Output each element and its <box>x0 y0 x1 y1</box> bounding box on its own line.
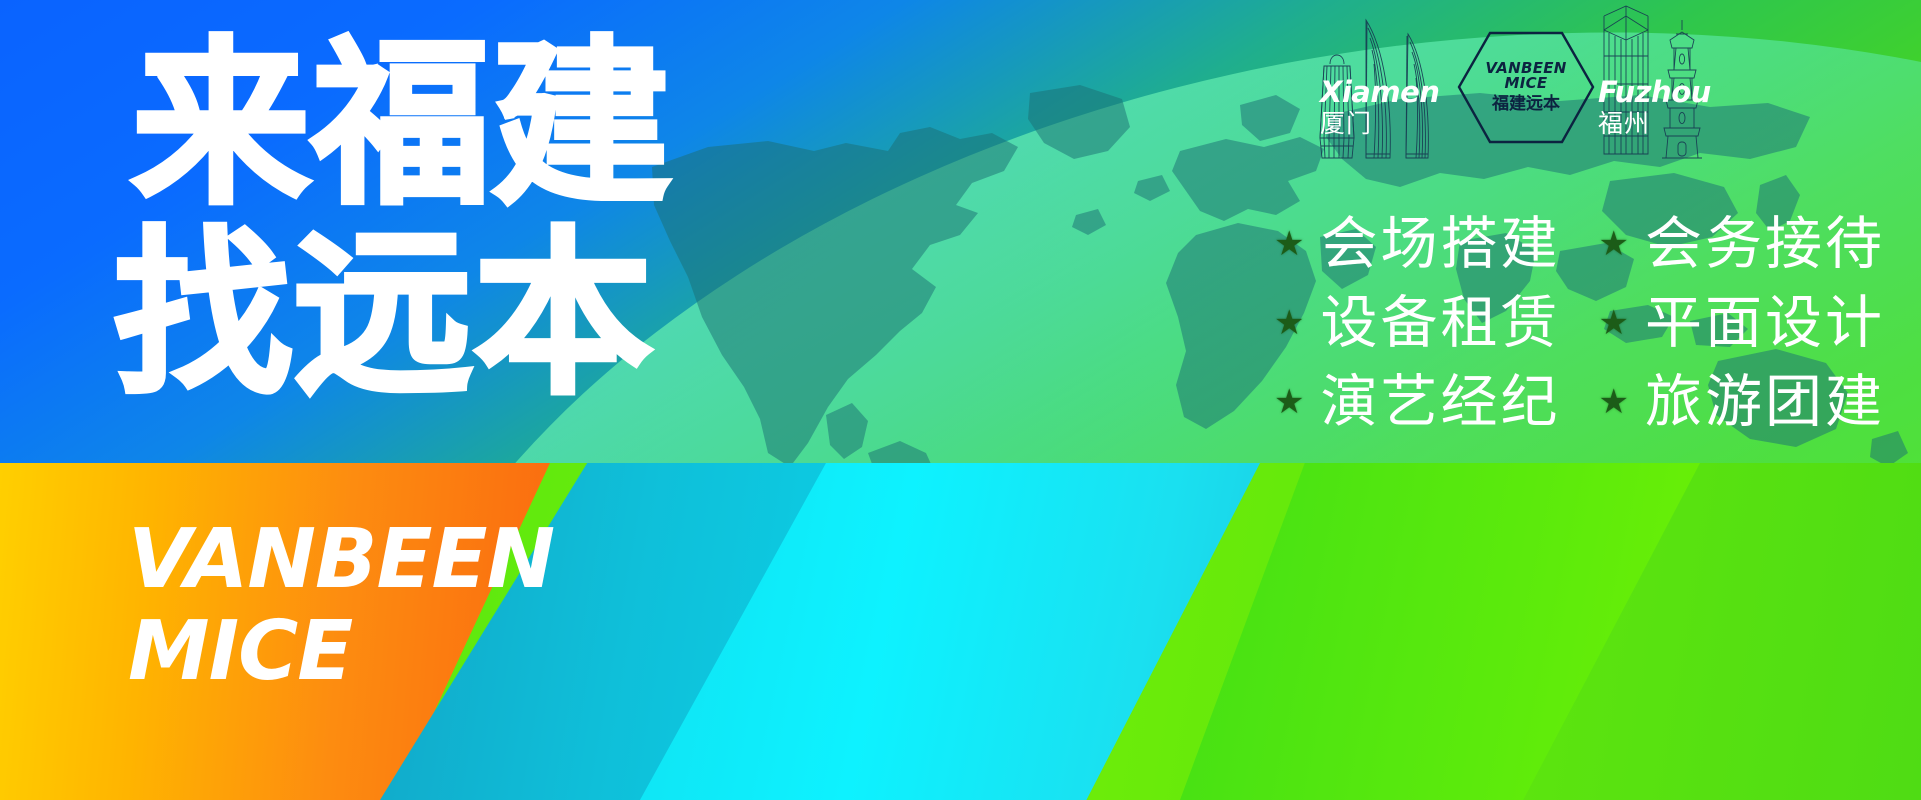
city-name-en: Xiamen <box>1320 78 1439 107</box>
service-label: 设备租赁 <box>1321 287 1561 360</box>
headline-line-2: 找远本 <box>114 228 672 402</box>
city-name-cn: 厦门 <box>1320 110 1439 138</box>
promo-banner: 来福建 找远本 ★ 会场搭建 ★ 会务接待 ★ 设备租赁 ★ 平面设计 ★ <box>0 0 1921 800</box>
star-icon: ★ <box>1274 385 1304 419</box>
service-item-2[interactable]: ★ 设备租赁 <box>1274 287 1560 360</box>
service-label: 会场搭建 <box>1321 208 1561 281</box>
city-name-cn: 福州 <box>1598 110 1711 138</box>
green-wedge-shape <box>1180 463 1700 800</box>
hex-brand-line-2: MICE <box>1505 76 1548 92</box>
service-label: 旅游团建 <box>1645 366 1885 439</box>
service-label: 会务接待 <box>1645 208 1885 281</box>
banner-bottom-bar: VANBEEN MICE <box>0 463 1921 800</box>
star-icon: ★ <box>1599 306 1629 340</box>
brand-logo-line-1: VANBEEN <box>128 518 554 602</box>
service-item-0[interactable]: ★ 会场搭建 <box>1274 208 1560 281</box>
banner-main-panel: 来福建 找远本 ★ 会场搭建 ★ 会务接待 ★ 设备租赁 ★ 平面设计 ★ <box>0 0 1921 463</box>
headline: 来福建 找远本 <box>132 38 672 403</box>
service-list: ★ 会场搭建 ★ 会务接待 ★ 设备租赁 ★ 平面设计 ★ 演艺经纪 ★ 旅游团 <box>1274 208 1885 439</box>
service-label: 演艺经纪 <box>1321 366 1561 439</box>
service-item-3[interactable]: ★ 平面设计 <box>1599 287 1885 360</box>
city-badge-fuzhou: Fuzhou 福州 <box>1598 78 1711 138</box>
service-item-5[interactable]: ★ 旅游团建 <box>1599 366 1885 439</box>
star-icon: ★ <box>1599 227 1629 261</box>
service-item-1[interactable]: ★ 会务接待 <box>1599 208 1885 281</box>
service-item-4[interactable]: ★ 演艺经纪 <box>1274 366 1560 439</box>
city-name-en: Fuzhou <box>1598 78 1711 107</box>
service-label: 平面设计 <box>1645 287 1885 360</box>
hex-brand-cn: 福建远本 <box>1492 94 1560 114</box>
star-icon: ★ <box>1599 385 1629 419</box>
city-badge-cluster: Xiamen 厦门 Fuzhou 福州 VANBEEN MICE 福建远本 <box>1310 0 1710 180</box>
star-icon: ★ <box>1274 227 1304 261</box>
hexagon-brand-mark: VANBEEN MICE 福建远本 <box>1456 30 1596 145</box>
brand-logo-bottom: VANBEEN MICE <box>128 518 554 693</box>
city-badge-xiamen: Xiamen 厦门 <box>1320 78 1439 138</box>
brand-logo-line-2: MICE <box>128 610 554 694</box>
headline-line-1: 来福建 <box>132 38 672 212</box>
star-icon: ★ <box>1274 306 1304 340</box>
